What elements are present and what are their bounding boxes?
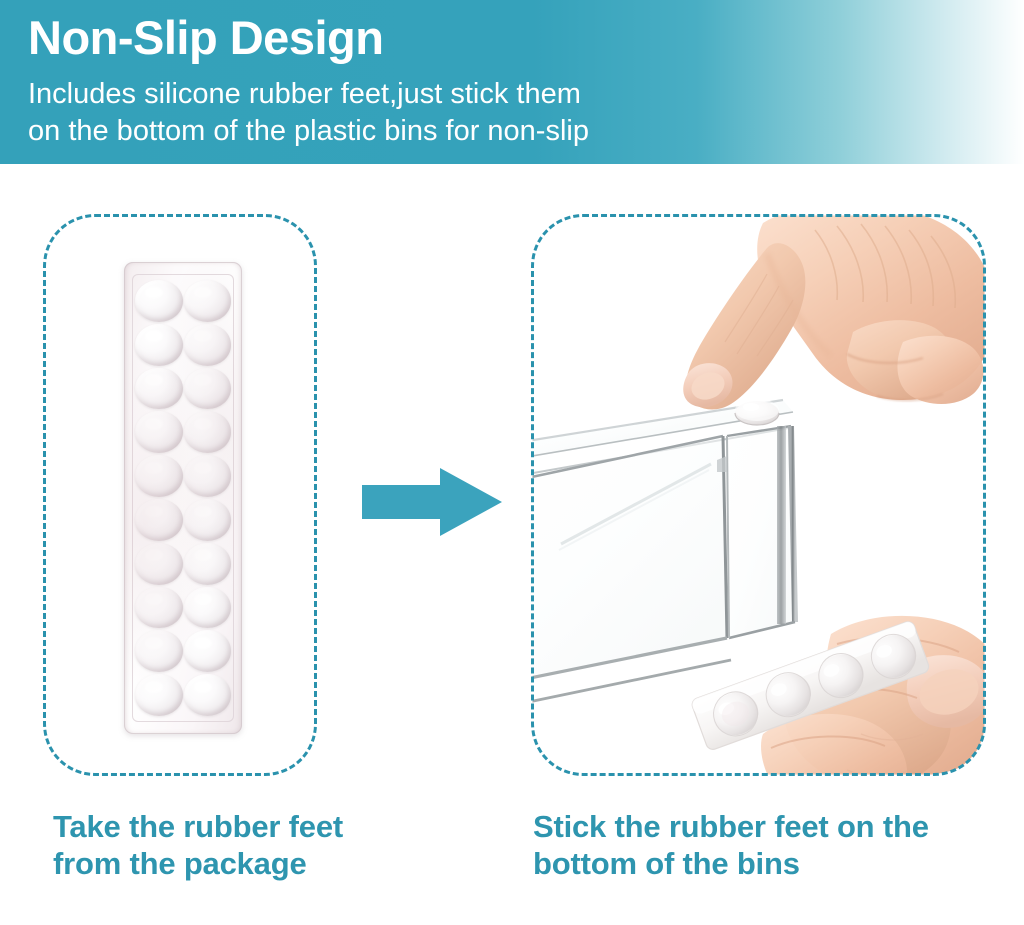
banner-subtitle-line-2: on the bottom of the plastic bins for no… — [28, 113, 589, 150]
rubber-foot — [135, 324, 183, 366]
rubber-foot — [184, 630, 232, 672]
step-two-caption: Stick the rubber feet on the bottom of t… — [533, 808, 993, 882]
header-banner: Non-Slip Design Includes silicone rubber… — [0, 0, 1024, 164]
banner-subtitle-line-1: Includes silicone rubber feet,just stick… — [28, 76, 581, 113]
page-title: Non-Slip Design — [28, 9, 383, 67]
rubber-foot — [135, 280, 183, 322]
rubber-foot — [135, 543, 183, 585]
rubber-foot — [135, 674, 183, 716]
rubber-feet-blister-pack — [124, 262, 242, 734]
rubber-foot — [184, 587, 232, 629]
rubber-foot — [184, 674, 232, 716]
rubber-foot — [135, 587, 183, 629]
rubber-foot — [184, 543, 232, 585]
rubber-foot — [184, 411, 232, 453]
rubber-foot — [135, 455, 183, 497]
rubber-foot — [184, 368, 232, 410]
rubber-foot — [184, 280, 232, 322]
rubber-foot — [184, 455, 232, 497]
rubber-foot — [184, 324, 232, 366]
rubber-foot — [135, 411, 183, 453]
step-two-panel — [531, 214, 986, 776]
step-one-caption: Take the rubber feet from the package — [53, 808, 353, 882]
rubber-foot — [135, 368, 183, 410]
rubber-feet-grid — [135, 280, 231, 716]
rubber-foot — [135, 630, 183, 672]
rubber-foot — [135, 499, 183, 541]
rubber-foot — [184, 499, 232, 541]
arrow-right-icon — [362, 468, 502, 536]
